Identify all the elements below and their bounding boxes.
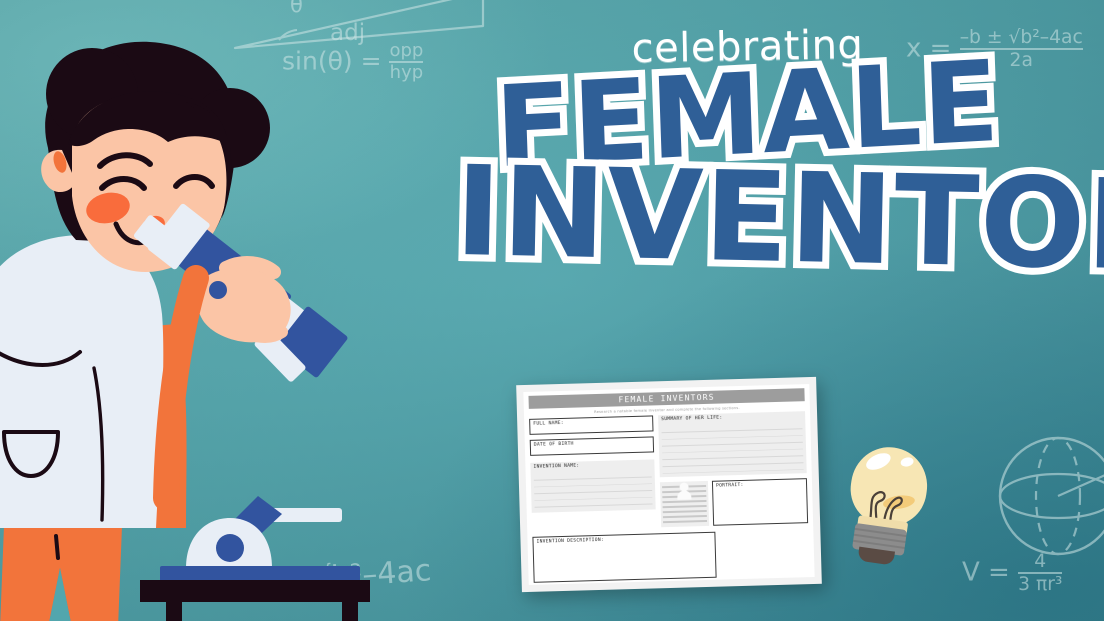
field-invention-description-label: INVENTION DESCRIPTION: [536, 537, 604, 544]
headline-line-inventors: INVENTORS [454, 155, 1041, 281]
portrait-placeholder-thumbnail [660, 480, 709, 526]
field-invention-description[interactable]: INVENTION DESCRIPTION: [532, 531, 716, 582]
person-silhouette-icon [677, 490, 691, 499]
ruled-lines [661, 422, 803, 474]
field-summary-label: SUMMARY OF HER LIFE: [661, 415, 722, 422]
field-date-of-birth[interactable]: DATE OF BIRTH [530, 436, 654, 455]
character-pants [0, 526, 122, 621]
field-full-name[interactable]: FULL NAME: [529, 415, 653, 434]
field-invention-name[interactable]: INVENTION NAME: [530, 459, 655, 512]
worksheet-banner-title: FEMALE INVENTORS [618, 393, 714, 405]
worksheet-right-column: SUMMARY OF HER LIFE: [658, 411, 808, 527]
girl-scientist-illustration [0, 28, 370, 621]
light-bulb-icon [832, 441, 940, 575]
worksheet-content: FEMALE INVENTORS Research a notable fema… [523, 384, 814, 585]
field-full-name-label: FULL NAME: [533, 420, 564, 426]
microscope-base [160, 566, 360, 582]
worksheet-columns: FULL NAME: DATE OF BIRTH INVENTION NAME:… [529, 411, 808, 531]
worksheet-page: FEMALE INVENTORS Research a notable fema… [516, 377, 822, 592]
character-lab-coat [0, 235, 163, 528]
worksheet-preview[interactable]: FEMALE INVENTORS Research a notable fema… [516, 377, 822, 592]
ruled-lines [534, 470, 653, 509]
field-date-of-birth-label: DATE OF BIRTH [534, 441, 574, 447]
character-hand [197, 263, 291, 342]
field-portrait-label: PORTRAIT: [716, 482, 744, 488]
worksheet-left-column: FULL NAME: DATE OF BIRTH INVENTION NAME: [529, 415, 656, 530]
poster-canvas: θ adj sin(θ) = opp hyp x = –b ± √b²–4ac … [0, 0, 1104, 621]
field-portrait[interactable]: PORTRAIT: [712, 478, 808, 526]
worksheet-lower-row: PORTRAIT: [660, 478, 808, 527]
field-invention-name-label: INVENTION NAME: [533, 463, 579, 469]
field-summary-of-her-life[interactable]: SUMMARY OF HER LIFE: [658, 411, 807, 477]
lab-table [140, 580, 370, 621]
poster-headline: celebrating FEMALE INVENTORS [455, 24, 1040, 275]
